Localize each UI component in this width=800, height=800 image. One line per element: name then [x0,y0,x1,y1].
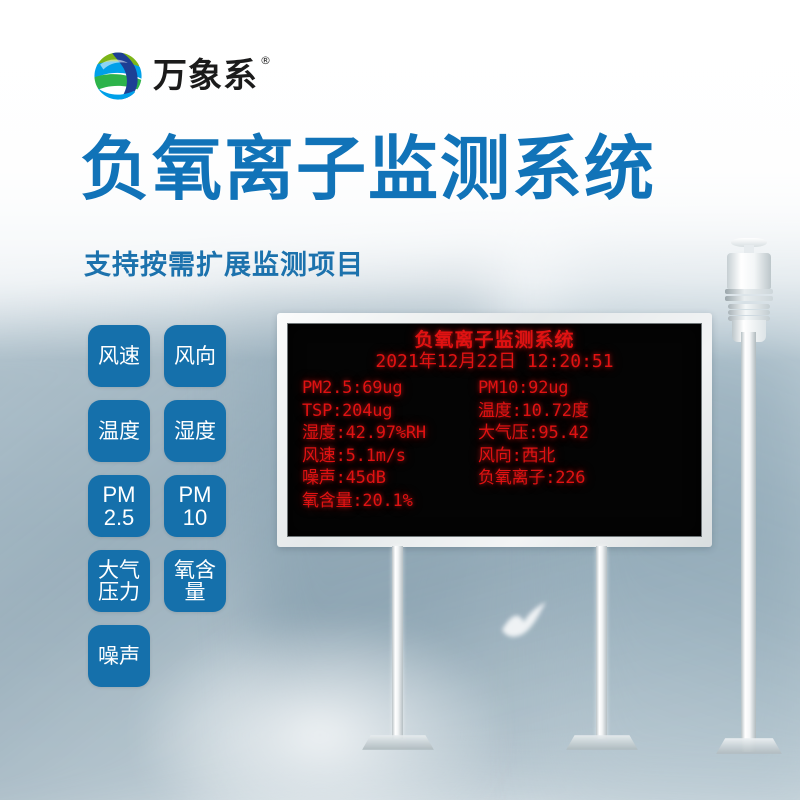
badge-pm10[interactable]: PM10 [164,475,226,537]
badge-humidity[interactable]: 湿度 [164,400,226,462]
badge-label-line: 大气 [98,559,140,581]
brand-logo: 万象系 ® [92,50,258,102]
page-subtitle: 支持按需扩展监测项目 [84,243,364,282]
led-reading-right: 大气压:95.42 [478,422,687,445]
page-title: 负氧离子监测系统 [80,134,656,204]
led-reading-right: 负氧离子:226 [478,467,687,490]
badge-label-line: 湿度 [174,420,216,442]
badge-noise[interactable]: 噪声 [88,625,150,687]
brand-name-text: 万象系 [153,56,258,96]
badge-label-line: 压力 [98,581,140,603]
led-content: 负氧离子监测系统 2021年12月22日 12:20:51 PM2.5:69ug… [288,324,701,536]
weather-sensor-mast [714,232,786,752]
globe-swirl-icon [92,50,144,102]
sensor-pole [741,332,756,752]
led-datetime: 2021年12月22日 12:20:51 [302,351,687,374]
support-pole-right [596,546,607,739]
registered-mark: ® [260,55,272,66]
badge-wind-speed[interactable]: 风速 [88,325,150,387]
led-readings-grid: PM2.5:69ugPM10:92ugTSP:204ug温度:10.72度湿度:… [302,377,687,513]
radiation-shield-plate-2 [728,310,770,315]
led-reading-left: 湿度:42.97%RH [302,422,470,445]
badge-label-line: 量 [185,581,206,603]
sensor-base-plate [716,738,782,754]
led-reading-left: 氧含量:20.1% [302,490,470,513]
led-reading-right: PM10:92ug [478,377,687,400]
badge-label-line: PM [103,483,136,506]
pole-base-left [362,735,434,750]
pole-base-right [566,735,638,750]
led-reading-right: 温度:10.72度 [478,400,687,423]
support-pole-left [392,546,403,739]
led-reading-left: 噪声:45dB [302,467,470,490]
badge-label-line: 风向 [174,345,216,367]
sensor-ring-lower [725,296,773,301]
badge-atmospheric-pressure[interactable]: 大气压力 [88,550,150,612]
badge-label-line: 2.5 [104,506,135,529]
badge-wind-direction[interactable]: 风向 [164,325,226,387]
led-reading-left: TSP:204ug [302,400,470,423]
badge-label-line: 噪声 [98,645,140,667]
badge-pm25[interactable]: PM2.5 [88,475,150,537]
sensor-ring-upper [725,289,773,294]
led-reading-right: 风向:西北 [478,445,687,468]
brand-name: 万象系 ® [153,59,258,93]
led-reading-left: PM2.5:69ug [302,377,470,400]
led-screen: 负氧离子监测系统 2021年12月22日 12:20:51 PM2.5:69ug… [287,323,702,537]
led-reading-left: 风速:5.1m/s [302,445,470,468]
badge-label-line: 风速 [98,345,140,367]
feature-badge-grid: 风速风向温度湿度PM2.5PM10大气压力氧含量噪声 [88,325,240,687]
radiation-shield-plate-1 [728,304,770,309]
badge-label-line: 10 [183,506,207,529]
badge-label-line: 氧含 [174,559,216,581]
badge-label-line: 温度 [98,420,140,442]
badge-label-line: PM [179,483,212,506]
led-display-sign: 负氧离子监测系统 2021年12月22日 12:20:51 PM2.5:69ug… [277,313,712,547]
badge-temperature[interactable]: 温度 [88,400,150,462]
promo-page: 万象系 ® 负氧离子监测系统 支持按需扩展监测项目 风速风向温度湿度PM2.5P… [0,0,800,800]
badge-oxygen-content[interactable]: 氧含量 [164,550,226,612]
sensor-head [727,253,771,289]
bird-silhouette-icon [498,600,550,646]
led-title: 负氧离子监测系统 [302,329,687,351]
